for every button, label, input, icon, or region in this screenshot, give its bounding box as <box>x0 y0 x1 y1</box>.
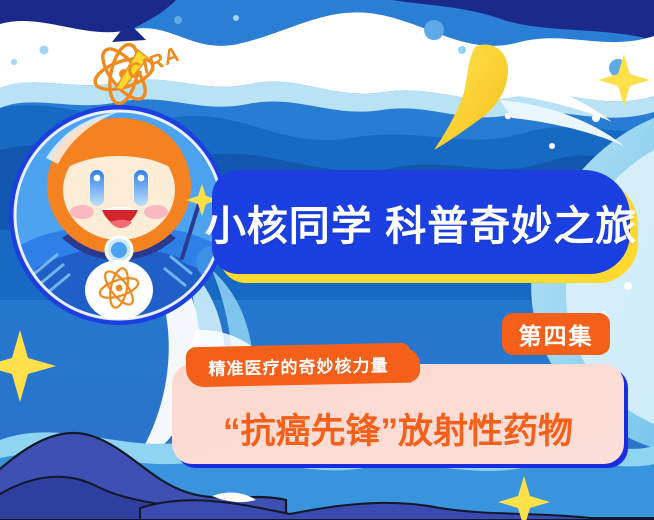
episode-badge-label: 第四集 <box>519 317 594 351</box>
cira-logo: CIRA <box>82 34 186 108</box>
episode-badge: 第四集 <box>502 313 610 355</box>
poster-canvas: CIRA <box>0 0 654 520</box>
headline-text: “抗癌先锋”放射性药物 <box>223 403 573 454</box>
subtitle-ribbon: 精准医疗的奇妙核力量 <box>186 343 412 388</box>
mascot-astronaut <box>6 98 236 333</box>
title-banner-plate: 小核同学 科普奇妙之旅 <box>212 170 630 274</box>
subtitle-text: 精准医疗的奇妙核力量 <box>208 351 388 380</box>
page-title: 小核同学 科普奇妙之旅 <box>205 192 637 252</box>
title-banner: 小核同学 科普奇妙之旅 <box>212 170 630 274</box>
